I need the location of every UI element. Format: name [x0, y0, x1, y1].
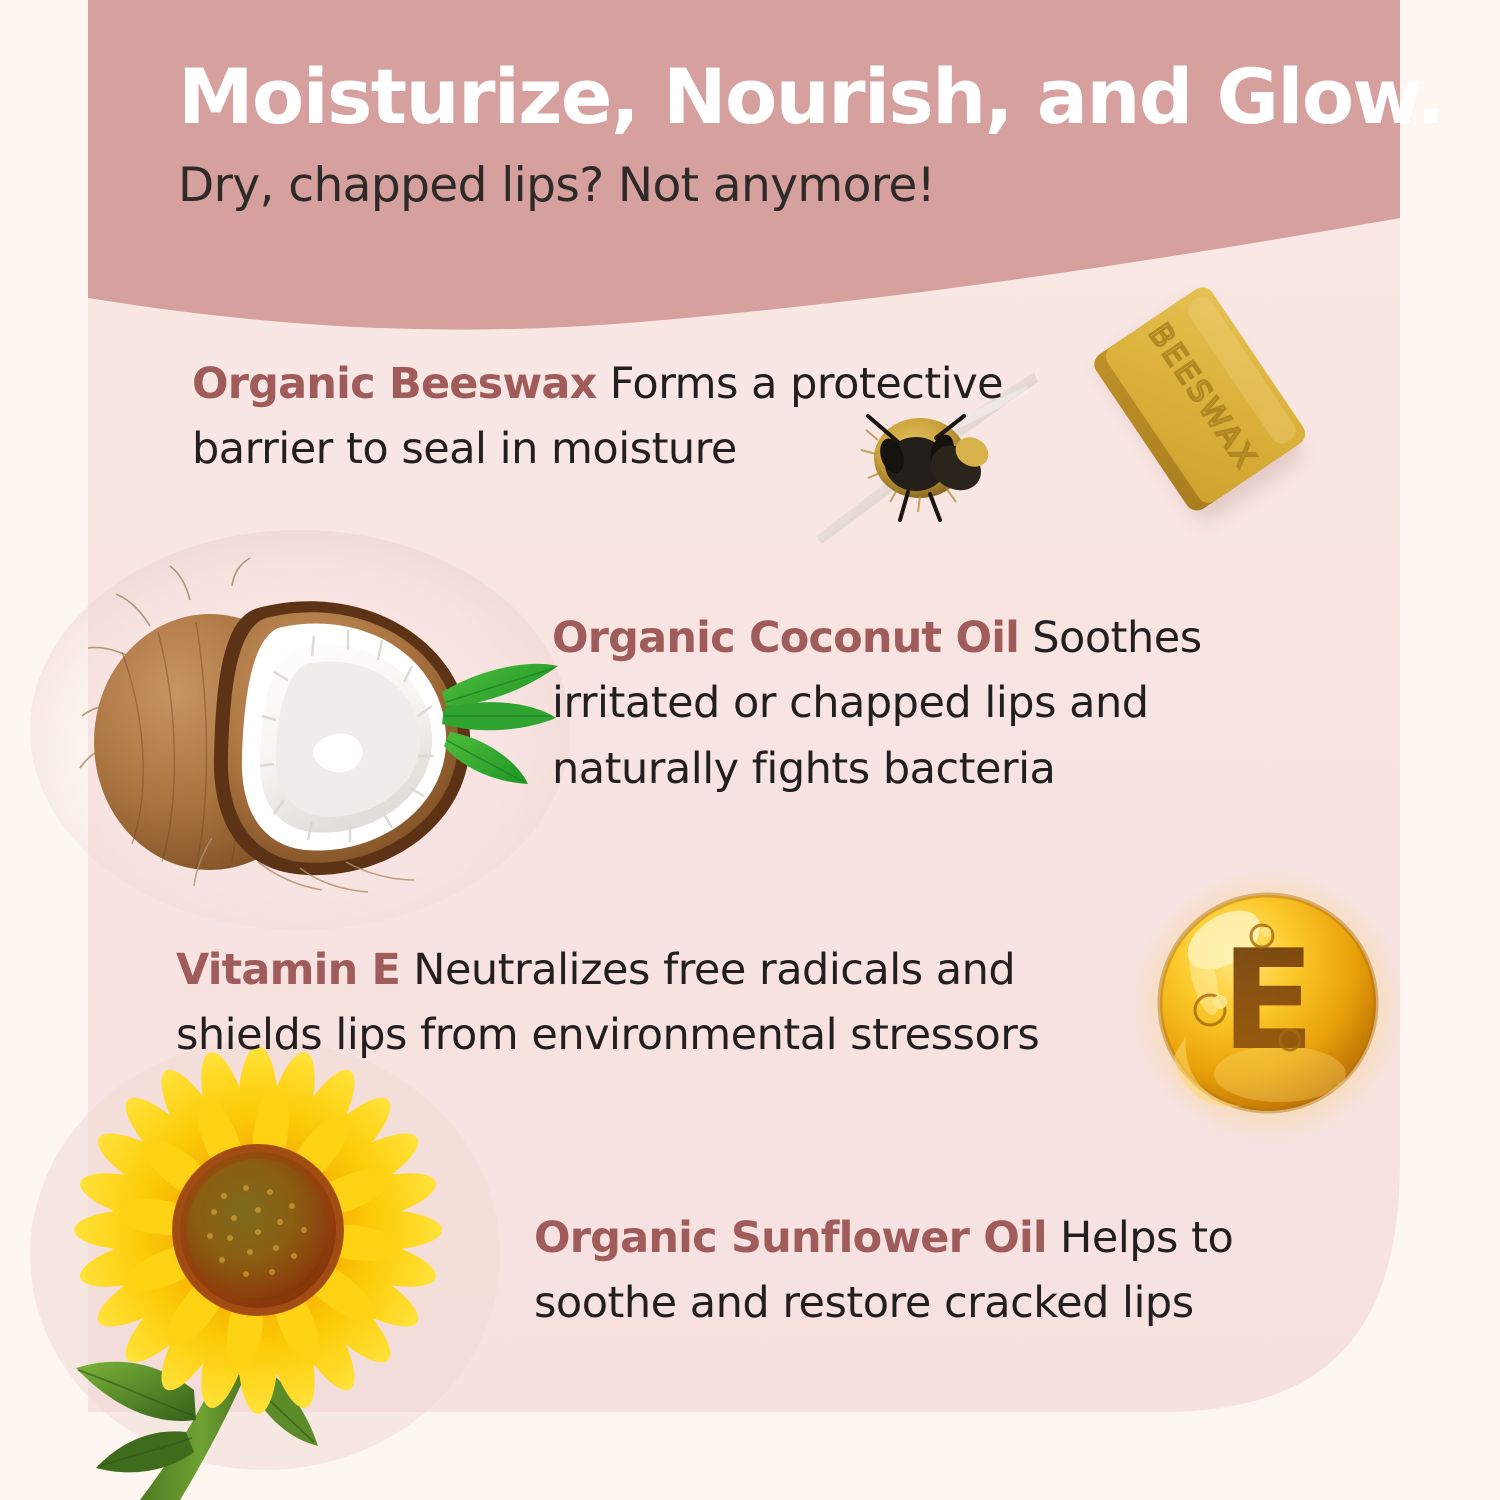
infographic-canvas: Moisturize, Nourish, and Glow. Dry, chap… — [0, 0, 1500, 1500]
header-block: Moisturize, Nourish, and Glow. Dry, chap… — [178, 58, 1378, 213]
page-headline: Moisturize, Nourish, and Glow. — [178, 58, 1378, 136]
ingredient-coconut-text: Organic Coconut Oil Soothes irritated or… — [552, 606, 1292, 802]
coconut-image — [62, 556, 562, 896]
ingredient-sunflower-name: Organic Sunflower Oil — [534, 1213, 1047, 1263]
page-subheadline: Dry, chapped lips? Not anymore! — [178, 158, 1378, 213]
ingredient-vitamin-e-text: Vitamin E Neutralizes free radicals and … — [176, 938, 1156, 1069]
vitamin-e-droplet-image: E — [1140, 868, 1420, 1158]
ingredient-beeswax-name: Organic Beeswax — [192, 359, 597, 409]
ingredient-vitamin-e-name: Vitamin E — [176, 945, 400, 995]
ingredient-sunflower-text: Organic Sunflower Oil Helps to soothe an… — [534, 1206, 1304, 1337]
sunflower-image — [18, 1060, 498, 1500]
beeswax-bar-image: BEESWAX — [1040, 240, 1370, 570]
ingredient-coconut-name: Organic Coconut Oil — [552, 613, 1019, 663]
ingredient-beeswax-text: Organic Beeswax Forms a protective barri… — [192, 352, 1072, 483]
